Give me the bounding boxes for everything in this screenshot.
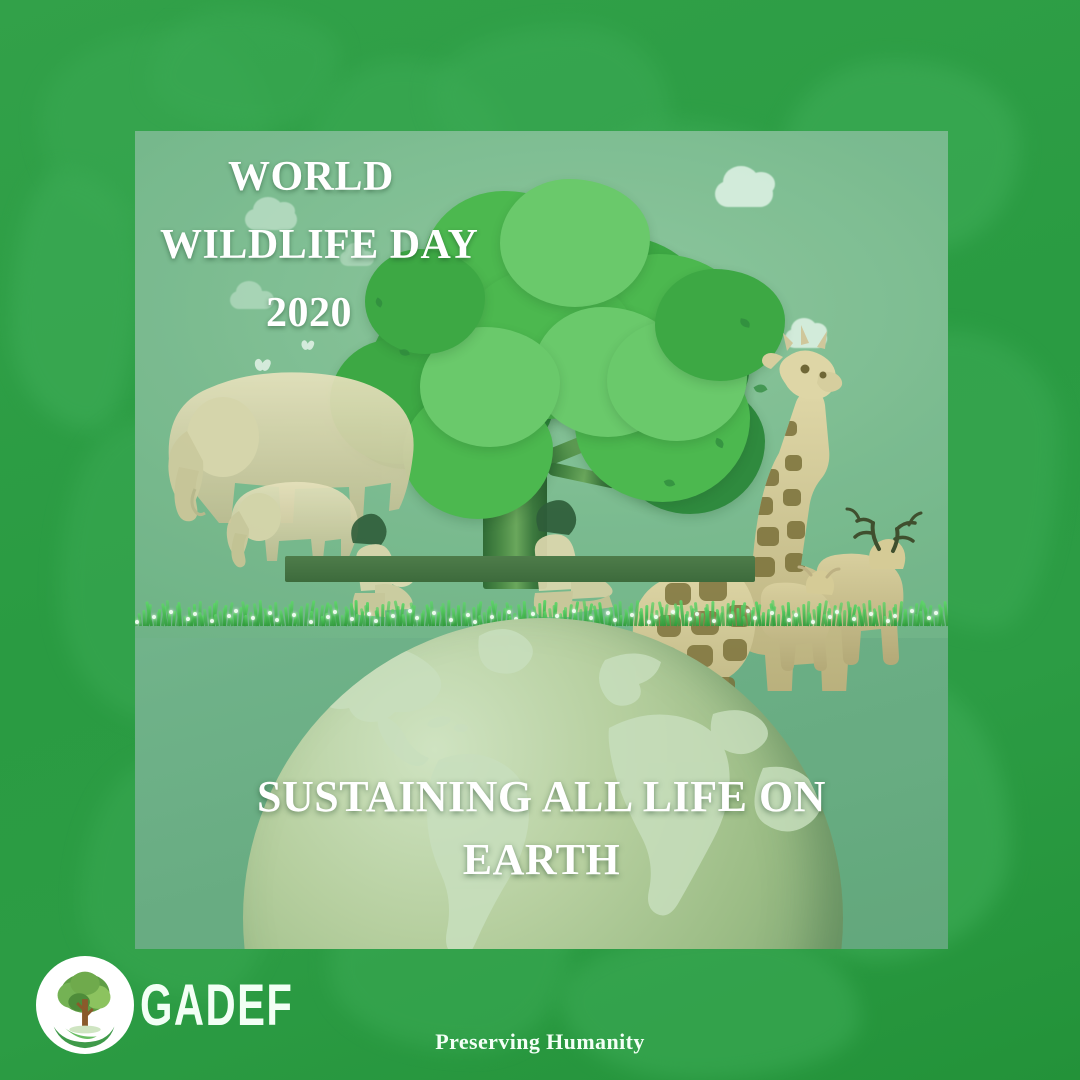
grass-blade xyxy=(208,606,212,626)
grass-flower xyxy=(852,617,856,621)
grass-flower xyxy=(934,611,938,615)
subtitle-line-2: EARTH xyxy=(135,828,948,891)
grass-flower xyxy=(531,612,535,616)
poster-subtitle: SUSTAINING ALL LIFE ON EARTH xyxy=(135,765,948,891)
grass-flower xyxy=(227,614,231,618)
grass-blade xyxy=(843,610,846,626)
grass-flower xyxy=(507,610,511,614)
grass-flower xyxy=(234,609,238,613)
subtitle-line-1: SUSTAINING ALL LIFE ON xyxy=(135,765,948,828)
grass-flower xyxy=(835,610,839,614)
headline-line-1: WORLD xyxy=(228,153,394,201)
grass-blade xyxy=(177,602,182,626)
grass-flower xyxy=(135,620,139,624)
ground-platform xyxy=(285,556,755,582)
grass-flower xyxy=(893,614,897,618)
grass-flower xyxy=(671,610,675,614)
grass-flower xyxy=(292,613,296,617)
brand-tagline: Preserving Humanity xyxy=(0,1029,1080,1055)
map-continent-shape xyxy=(150,10,340,130)
grass-flower xyxy=(466,613,470,617)
grass-flower xyxy=(910,609,914,613)
grass-flower xyxy=(186,617,190,621)
grass-flower xyxy=(606,611,610,615)
grass-blade xyxy=(919,611,923,626)
headline-line-2: WILDLIFE DAY xyxy=(160,221,478,269)
grass-flower xyxy=(927,616,931,620)
grass-flower xyxy=(886,619,890,623)
grass-blade xyxy=(142,610,146,626)
grass-blade xyxy=(904,609,908,626)
elephant-calf xyxy=(227,482,359,568)
poster-canvas: WORLD WILDLIFE DAY 2020 SUSTAINING ALL L… xyxy=(0,0,1080,1080)
grass-flower xyxy=(869,612,873,616)
grass-flower xyxy=(268,611,272,615)
grass-flower xyxy=(746,609,750,613)
grass-flower xyxy=(408,609,412,613)
grass-blade xyxy=(168,614,171,626)
grass-flower xyxy=(432,611,436,615)
grass-flower xyxy=(333,610,337,614)
grass-flower xyxy=(572,609,576,613)
grass-flower xyxy=(695,612,699,616)
grass-flower xyxy=(367,612,371,616)
grass-flower xyxy=(169,610,173,614)
map-continent-shape xyxy=(10,170,140,430)
grass-flower xyxy=(770,611,774,615)
grass-flower xyxy=(630,613,634,617)
grass-flower xyxy=(152,615,156,619)
grass-flower xyxy=(210,619,214,623)
headline-line-3: 2020 xyxy=(266,289,352,337)
map-continent-shape xyxy=(560,930,860,1080)
grass-flower xyxy=(193,612,197,616)
grass-flower xyxy=(794,613,798,617)
